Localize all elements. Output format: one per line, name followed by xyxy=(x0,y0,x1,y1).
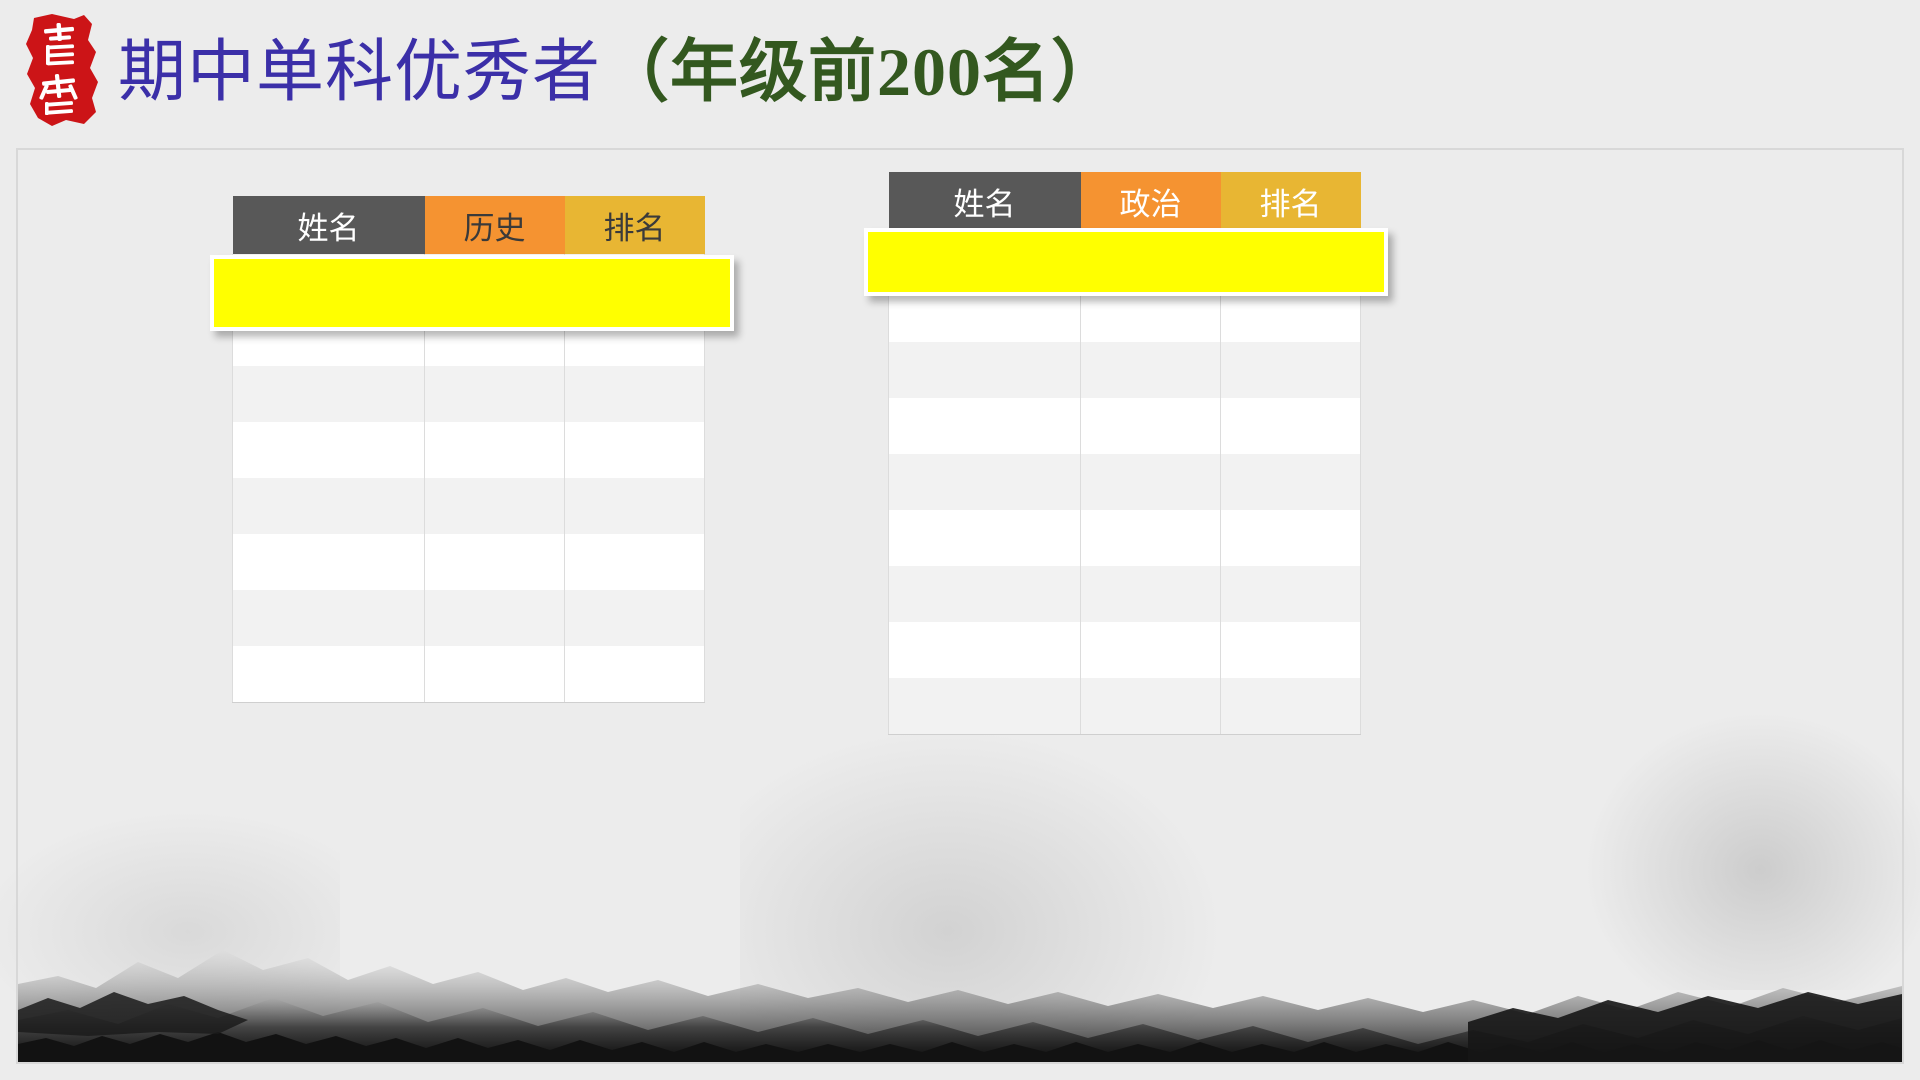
table-cell-score[interactable] xyxy=(425,534,565,590)
politics-col-header-subject: 政治 xyxy=(1081,172,1221,230)
table-cell-score[interactable] xyxy=(425,646,565,702)
table-row[interactable] xyxy=(889,342,1361,398)
politics-table-header-row: 姓名 政治 排名 xyxy=(889,172,1361,230)
politics-col-header-rank: 排名 xyxy=(1221,172,1361,230)
table-cell-rank[interactable] xyxy=(1221,678,1361,734)
politics-table-highlight-box[interactable] xyxy=(864,228,1388,296)
history-table-header-row: 姓名 历史 排名 xyxy=(233,196,705,254)
table-cell-name[interactable] xyxy=(889,566,1081,622)
table-cell-name[interactable] xyxy=(233,366,425,422)
table-cell-score[interactable] xyxy=(1081,398,1221,454)
table-cell-score[interactable] xyxy=(1081,510,1221,566)
table-cell-rank[interactable] xyxy=(1221,398,1361,454)
table-cell-rank[interactable] xyxy=(565,646,705,702)
history-col-header-subject: 历史 xyxy=(425,196,565,254)
table-cell-rank[interactable] xyxy=(565,366,705,422)
table-row[interactable] xyxy=(889,678,1361,734)
table-cell-score[interactable] xyxy=(425,422,565,478)
table-row[interactable] xyxy=(889,510,1361,566)
table-cell-score[interactable] xyxy=(425,366,565,422)
table-cell-name[interactable] xyxy=(889,678,1081,734)
page-title: 期中单科优秀者（年级前200名） xyxy=(118,22,1120,122)
table-cell-name[interactable] xyxy=(233,590,425,646)
table-cell-rank[interactable] xyxy=(1221,454,1361,510)
history-col-header-name: 姓名 xyxy=(233,196,425,254)
page-title-main: 期中单科优秀者 xyxy=(118,34,601,110)
table-cell-name[interactable] xyxy=(233,646,425,702)
table-cell-name[interactable] xyxy=(233,534,425,590)
table-cell-rank[interactable] xyxy=(1221,622,1361,678)
table-cell-name[interactable] xyxy=(889,342,1081,398)
table-cell-score[interactable] xyxy=(425,590,565,646)
table-row[interactable] xyxy=(233,646,705,702)
table-cell-name[interactable] xyxy=(233,478,425,534)
politics-table-body xyxy=(889,230,1361,734)
table-row[interactable] xyxy=(233,534,705,590)
politics-col-header-name: 姓名 xyxy=(889,172,1081,230)
table-cell-rank[interactable] xyxy=(1221,342,1361,398)
table-row[interactable] xyxy=(233,590,705,646)
table-cell-score[interactable] xyxy=(425,478,565,534)
table-cell-rank[interactable] xyxy=(1221,510,1361,566)
table-cell-rank[interactable] xyxy=(565,422,705,478)
table-cell-name[interactable] xyxy=(889,454,1081,510)
table-cell-score[interactable] xyxy=(1081,678,1221,734)
table-cell-score[interactable] xyxy=(1081,454,1221,510)
table-cell-score[interactable] xyxy=(1081,566,1221,622)
history-col-header-rank: 排名 xyxy=(565,196,705,254)
table-row[interactable] xyxy=(889,622,1361,678)
history-table-highlight-box[interactable] xyxy=(210,255,734,331)
table-cell-name[interactable] xyxy=(889,398,1081,454)
table-cell-rank[interactable] xyxy=(1221,566,1361,622)
table-row[interactable] xyxy=(889,454,1361,510)
table-row[interactable] xyxy=(889,398,1361,454)
table-cell-name[interactable] xyxy=(233,422,425,478)
ink-wash-mountain-silhouette xyxy=(18,892,1902,1062)
table-row[interactable] xyxy=(233,478,705,534)
table-row[interactable] xyxy=(233,366,705,422)
table-cell-name[interactable] xyxy=(889,622,1081,678)
page-title-parenthetical: （年级前200名） xyxy=(601,34,1120,110)
table-cell-rank[interactable] xyxy=(565,590,705,646)
red-seal-stamp-icon xyxy=(22,12,106,130)
table-row[interactable] xyxy=(233,422,705,478)
table-cell-score[interactable] xyxy=(1081,622,1221,678)
slide-header: 期中单科优秀者（年级前200名） xyxy=(0,0,1920,148)
table-row[interactable] xyxy=(889,566,1361,622)
slide-canvas: 期中单科优秀者（年级前200名） 姓名 历史 排名 xyxy=(0,0,1920,1080)
table-cell-score[interactable] xyxy=(1081,342,1221,398)
table-cell-name[interactable] xyxy=(889,510,1081,566)
table-cell-rank[interactable] xyxy=(565,534,705,590)
table-cell-rank[interactable] xyxy=(565,478,705,534)
